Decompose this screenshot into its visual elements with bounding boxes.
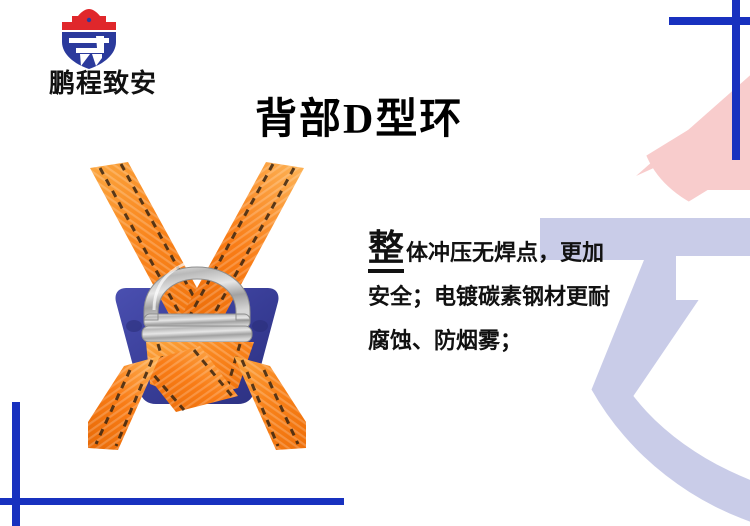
- poster-canvas: 鹏程致安 背部D型环: [0, 0, 750, 526]
- description-line-2: 安全；电镀碳素钢材更耐: [368, 275, 668, 319]
- pink-square-decor: [702, 146, 750, 190]
- blue-vertical-line-top-decor: [732, 0, 740, 160]
- pink-curved-band-decor: [630, 7, 750, 233]
- description-line-1: 整体冲压无焊点，更加: [368, 230, 668, 275]
- page-title: 背部D型环: [255, 95, 505, 145]
- description-line-1-text: 体冲压无焊点，更加: [406, 240, 604, 265]
- blue-horizontal-line-bottom-decor: [0, 498, 344, 505]
- brand-name: 鹏程致安: [18, 68, 188, 98]
- description-lead-char: 整: [368, 227, 404, 273]
- blue-horizontal-line-top-decor: [669, 17, 750, 25]
- brand-logo: 鹏程致安: [18, 8, 188, 103]
- product-description: 整体冲压无焊点，更加 安全；电镀碳素钢材更耐 腐蚀、防烟雾；: [368, 230, 668, 363]
- lavender-glyph-notch-decor: [676, 256, 750, 300]
- product-photo: [88, 160, 306, 456]
- pink-band-tail-decor: [636, 36, 750, 176]
- blue-vertical-line-bottom-decor: [12, 402, 20, 526]
- description-line-3: 腐蚀、防烟雾；: [368, 319, 668, 363]
- shield-logo-icon: [56, 8, 122, 70]
